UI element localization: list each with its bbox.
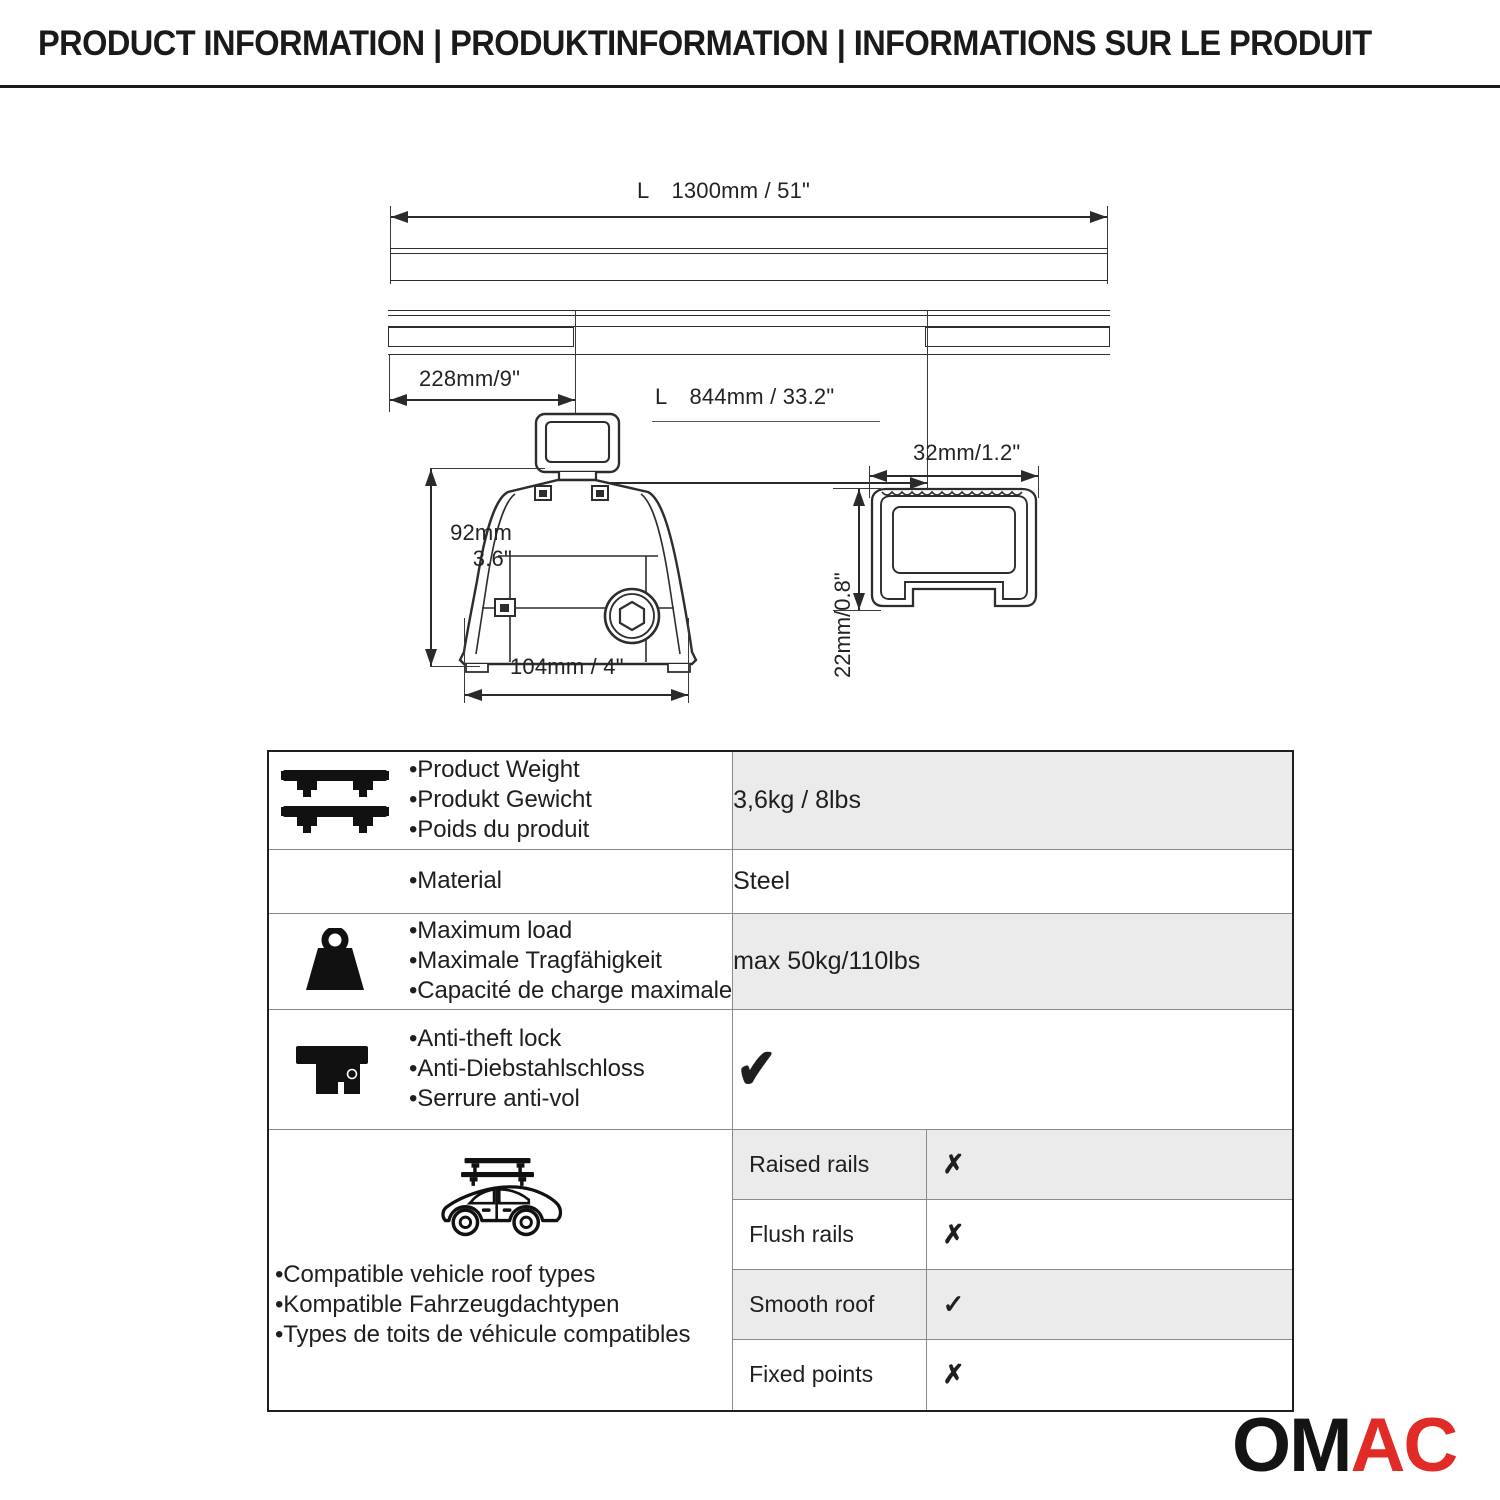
product-specification-table: •Product Weight •Produkt Gewicht •Poids … <box>267 750 1294 1412</box>
bar-side-view-top <box>390 253 1108 281</box>
car-with-rack-icon <box>435 1146 567 1250</box>
crossbars-icon <box>269 764 401 836</box>
omac-logo: OMAC <box>1232 1408 1456 1484</box>
bullet-maximum-load-de: •Maximale Tragfähigkeit <box>409 946 732 976</box>
bullet-product-weight-de: •Produkt Gewicht <box>409 785 592 815</box>
bullet-list-compatible-roof-types: •Compatible vehicle roof types •Kompatib… <box>269 1260 732 1351</box>
omac-logo-red-text: AC <box>1350 1403 1456 1488</box>
check-mark-icon: ✔ <box>737 1041 777 1097</box>
dimension-line-32 <box>870 475 1038 477</box>
value-cell-anti-theft-lock: ✔ <box>733 1009 1293 1129</box>
weight-icon <box>269 928 401 994</box>
dim-foot-height-line2: 3.6" <box>438 546 512 572</box>
dim-bar-length: L1300mm / 51" <box>637 178 810 204</box>
bullet-list-anti-theft-lock: •Anti-theft lock •Anti-Diebstahlschloss … <box>409 1024 645 1115</box>
foot-pad-right <box>925 327 1110 347</box>
value-cell-maximum-load: max 50kg/110lbs <box>733 913 1293 1009</box>
bullet-product-weight-en: •Product Weight <box>409 755 592 785</box>
roof-type-row-raised-rails: Raised rails ✗ <box>733 1130 1292 1200</box>
dim-profile-width: 32mm/1.2" <box>913 440 1020 466</box>
bar-bottom-view-top-line <box>388 310 1110 311</box>
bullet-roof-types-en: •Compatible vehicle roof types <box>275 1260 732 1290</box>
bullet-maximum-load-fr: •Capacité de charge maximale <box>409 976 732 1006</box>
value-cell-material: Steel <box>733 849 1293 913</box>
table-row-compatible-roof-types: •Compatible vehicle roof types •Kompatib… <box>268 1129 1293 1411</box>
dim-foot-offset: 228mm/9" <box>419 366 520 392</box>
technical-drawing-zone: L1300mm / 51" 228mm/9" L844mm / 33.2" <box>0 88 1500 748</box>
bullet-list-maximum-load: •Maximum load •Maximale Tragfähigkeit •C… <box>409 916 732 1007</box>
roof-type-mark-raised-rails: ✗ <box>926 1130 1292 1200</box>
dim-foot-width: 104mm / 4" <box>510 654 624 680</box>
bullet-material-en: •Material <box>409 866 502 896</box>
label-cell-material: •Material <box>268 849 733 913</box>
dimension-line-92 <box>430 469 432 666</box>
bullet-list-product-weight: •Product Weight •Produkt Gewicht •Poids … <box>409 755 592 846</box>
bullet-maximum-load-en: •Maximum load <box>409 916 732 946</box>
table-row-product-weight: •Product Weight •Produkt Gewicht •Poids … <box>268 751 1293 849</box>
dimension-line-22 <box>858 489 860 610</box>
roof-type-name-smooth-roof: Smooth roof <box>733 1270 926 1340</box>
roof-types-subtable: Raised rails ✗ Flush rails ✗ Smooth roof… <box>733 1130 1292 1410</box>
extension-line-bottom-92 <box>430 666 480 667</box>
value-cell-product-weight: 3,6kg / 8lbs <box>733 751 1293 849</box>
roof-type-name-flush-rails: Flush rails <box>733 1200 926 1270</box>
label-cell-maximum-load: •Maximum load •Maximale Tragfähigkeit •C… <box>268 913 733 1009</box>
dim-foot-height-line1: 92mm <box>438 520 512 546</box>
dim-foot-offset-value: 228mm/9" <box>419 366 520 391</box>
omac-logo-dark-text: OM <box>1232 1403 1350 1488</box>
roof-type-name-fixed-points: Fixed points <box>733 1340 926 1410</box>
bar-cross-section-drawing <box>866 483 1066 633</box>
roof-type-mark-fixed-points: ✗ <box>926 1340 1292 1410</box>
roof-type-mark-smooth-roof: ✓ <box>926 1270 1292 1340</box>
lock-icon <box>269 1040 401 1098</box>
value-cell-compatible-roof-types: Raised rails ✗ Flush rails ✗ Smooth roof… <box>733 1129 1293 1411</box>
foot-pad-left <box>388 327 574 347</box>
extension-line-right-104 <box>688 618 689 703</box>
roof-type-name-raised-rails: Raised rails <box>733 1130 926 1200</box>
dim-bar-length-value: 1300mm / 51" <box>671 178 810 203</box>
dimension-line-104 <box>465 694 688 696</box>
roof-type-row-fixed-points: Fixed points ✗ <box>733 1340 1292 1410</box>
dim-bar-length-symbol: L <box>637 178 649 203</box>
dim-profile-height-value: 22mm/0.8" <box>830 572 855 678</box>
page-header: PRODUCT INFORMATION | PRODUKTINFORMATION… <box>0 0 1500 88</box>
dimension-line-228 <box>390 399 575 401</box>
page-title: PRODUCT INFORMATION | PRODUKTINFORMATION… <box>38 24 1372 64</box>
dim-foot-width-value: 104mm / 4" <box>510 654 624 679</box>
table-row-material: •Material Steel <box>268 849 1293 913</box>
extension-line-top-92 <box>430 468 545 469</box>
dim-foot-height: 92mm 3.6" <box>438 520 512 572</box>
dim-profile-height: 22mm/0.8" <box>830 572 856 678</box>
label-cell-product-weight: •Product Weight •Produkt Gewicht •Poids … <box>268 751 733 849</box>
bullet-list-material: •Material <box>409 866 502 896</box>
label-cell-anti-theft-lock: •Anti-theft lock •Anti-Diebstahlschloss … <box>268 1009 733 1129</box>
bullet-roof-types-de: •Kompatible Fahrzeugdachtypen <box>275 1290 732 1320</box>
bar-top-edge-line <box>390 248 1108 249</box>
bullet-product-weight-fr: •Poids du produit <box>409 815 592 845</box>
table-row-maximum-load: •Maximum load •Maximale Tragfähigkeit •C… <box>268 913 1293 1009</box>
bar-bottom-view-strip <box>388 315 1110 327</box>
dim-profile-width-value: 32mm/1.2" <box>913 440 1020 465</box>
dimension-line-1300 <box>391 216 1107 218</box>
bullet-anti-theft-lock-en: •Anti-theft lock <box>409 1024 645 1054</box>
roof-type-mark-flush-rails: ✗ <box>926 1200 1292 1270</box>
bar-bottom-view-base-line <box>388 354 1110 355</box>
bullet-anti-theft-lock-de: •Anti-Diebstahlschloss <box>409 1054 645 1084</box>
label-cell-compatible-roof-types: •Compatible vehicle roof types •Kompatib… <box>268 1129 733 1411</box>
roof-type-row-flush-rails: Flush rails ✗ <box>733 1200 1292 1270</box>
bullet-roof-types-fr: •Types de toits de véhicule compatibles <box>275 1320 732 1350</box>
table-row-anti-theft-lock: •Anti-theft lock •Anti-Diebstahlschloss … <box>268 1009 1293 1129</box>
bullet-anti-theft-lock-fr: •Serrure anti-vol <box>409 1084 645 1114</box>
roof-type-row-smooth-roof: Smooth roof ✓ <box>733 1270 1292 1340</box>
